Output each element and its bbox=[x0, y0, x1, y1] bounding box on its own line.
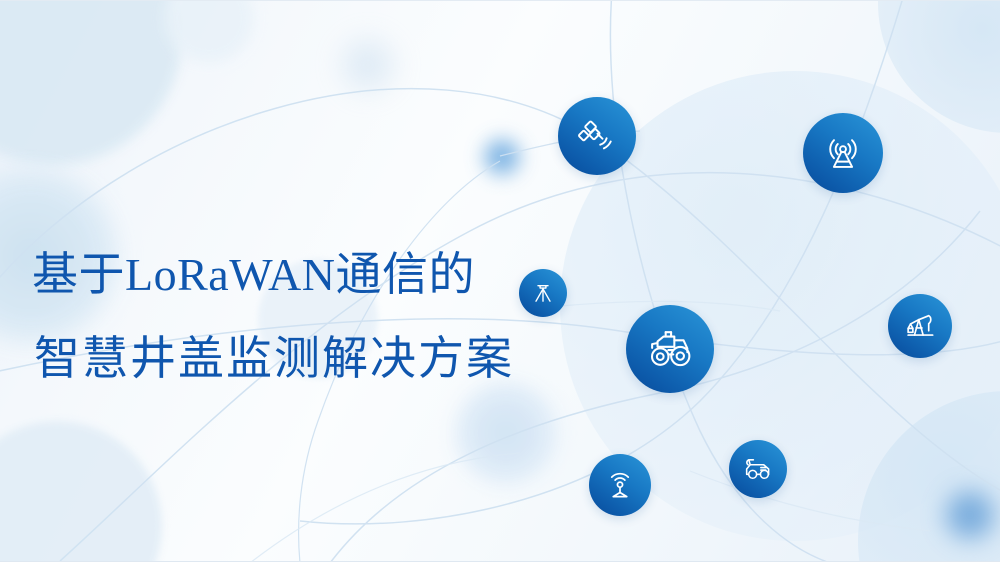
tractor-icon bbox=[644, 323, 696, 375]
node-tractor[interactable] bbox=[626, 305, 714, 393]
node-beacon[interactable] bbox=[589, 454, 651, 516]
node-satellite[interactable] bbox=[558, 97, 636, 175]
background-blob-faint-top bbox=[330, 27, 406, 103]
slide-title: 基于LoRaWAN通信的 智慧井盖监测解决方案 bbox=[32, 233, 572, 401]
background-blob-bottom-left bbox=[0, 421, 162, 562]
node-pumpjack[interactable] bbox=[888, 294, 952, 358]
title-slide: 基于LoRaWAN通信的 智慧井盖监测解决方案 bbox=[0, 0, 1000, 562]
title-line-2: 智慧井盖监测解决方案 bbox=[32, 317, 572, 401]
radio-tower-icon bbox=[820, 130, 866, 176]
background-bokeh-dot-right bbox=[940, 485, 1000, 545]
signal-beacon-icon bbox=[602, 467, 638, 503]
oil-pumpjack-icon bbox=[901, 307, 939, 345]
node-harvester[interactable] bbox=[729, 440, 787, 498]
harvester-icon bbox=[741, 452, 775, 486]
background-sphere-top-right bbox=[878, 0, 1000, 133]
title-line-1: 基于LoRaWAN通信的 bbox=[32, 233, 572, 317]
background-sphere-bottom-right bbox=[858, 391, 1000, 562]
background-blob-top-left bbox=[0, 0, 182, 165]
background-bokeh-dot-left bbox=[480, 135, 524, 179]
background-blob-top-mid bbox=[164, 0, 254, 63]
node-antenna[interactable] bbox=[803, 113, 883, 193]
satellite-icon bbox=[575, 114, 619, 158]
